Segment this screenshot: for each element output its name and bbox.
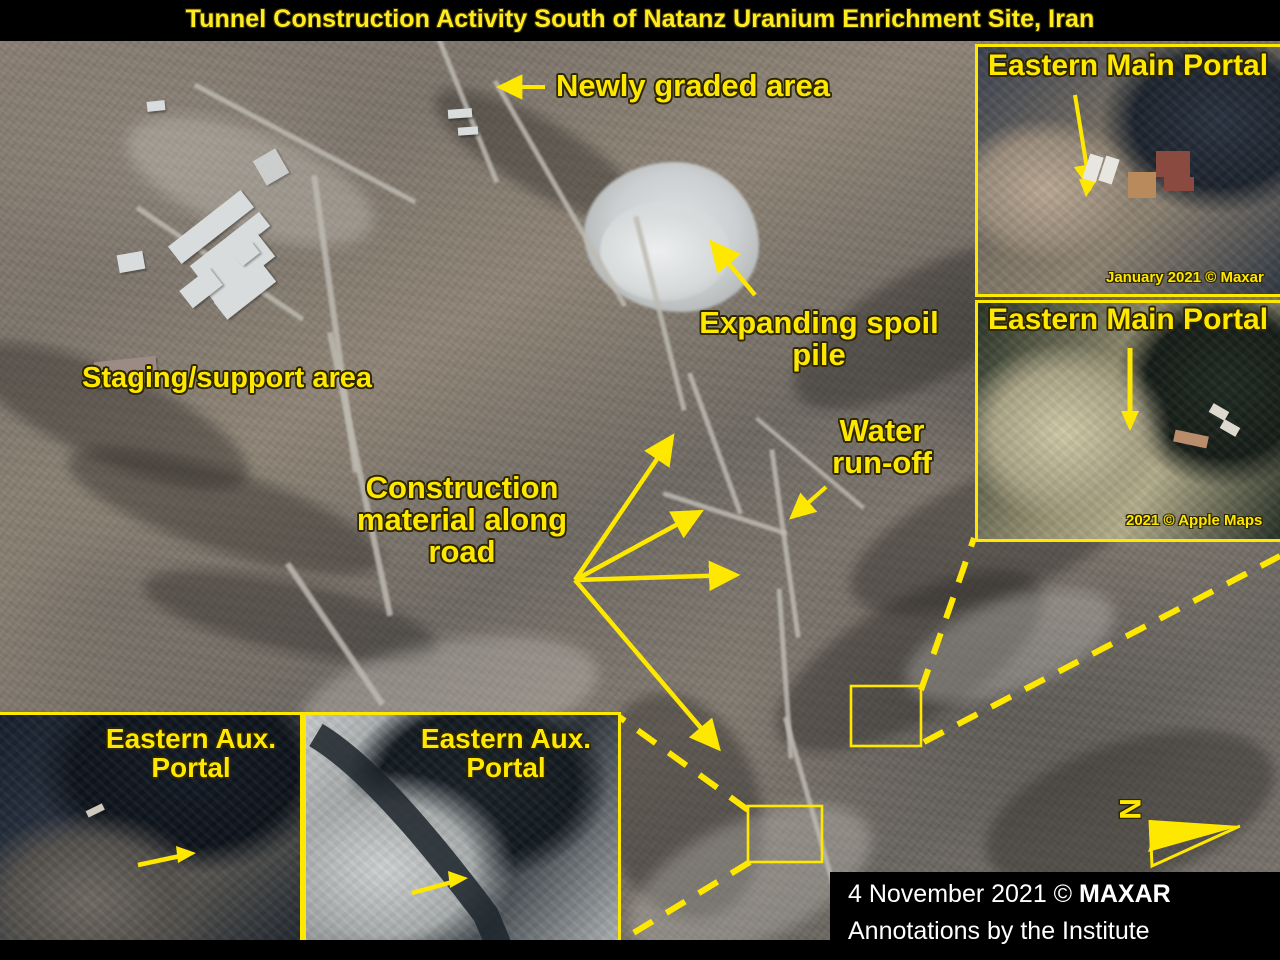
credit-attribution: Annotations by the Institute xyxy=(848,917,1150,946)
spoil-pile-inner xyxy=(600,201,730,301)
inset-eastern-main-portal-apple[interactable]: Eastern Main Portal 2021 © Apple Maps xyxy=(975,300,1280,542)
annotation-water-runoff: Water run-off xyxy=(812,415,952,479)
annotation-newly-graded: Newly graded area xyxy=(556,70,830,102)
inset-eastern-aux-portal-nov[interactable]: Eastern Aux. Portal xyxy=(303,712,621,960)
title-bar: Tunnel Construction Activity South of Na… xyxy=(0,0,1280,41)
inset-label: Eastern Main Portal xyxy=(988,51,1268,82)
inset-arrow-overlay xyxy=(978,303,1280,539)
credit-date-prefix: 4 November 2021 © xyxy=(848,880,1079,908)
credit-date-line: 4 November 2021 © MAXAR xyxy=(848,880,1171,909)
satellite-annotation-figure: Newly graded area Expanding spoil pile S… xyxy=(0,0,1280,960)
inset-label: Eastern Aux. Portal xyxy=(96,725,286,782)
annotation-construction-material: Construction material along road xyxy=(338,472,586,569)
inset-credit: 2021 © Apple Maps xyxy=(1126,512,1262,529)
north-arrow-letter: N xyxy=(1112,798,1146,820)
inset-eastern-main-portal-maxar[interactable]: Eastern Main Portal January 2021 © Maxar xyxy=(975,44,1280,297)
inset-label: Eastern Aux. Portal xyxy=(406,725,606,782)
page-title: Tunnel Construction Activity South of Na… xyxy=(0,5,1280,34)
inset-arrow-overlay xyxy=(978,47,1280,294)
annotation-staging-area: Staging/support area xyxy=(82,363,372,393)
inset-eastern-aux-portal-maxar[interactable]: Eastern Aux. Portal January 2021 © Maxar xyxy=(0,712,303,960)
building xyxy=(448,108,473,119)
bottom-black-strip xyxy=(0,940,830,960)
credit-brand: MAXAR xyxy=(1079,880,1171,908)
inset-credit: January 2021 © Maxar xyxy=(1106,269,1264,286)
building xyxy=(147,100,166,112)
annotation-expanding-spoil: Expanding spoil pile xyxy=(684,307,954,371)
building xyxy=(458,126,479,135)
credit-box: 4 November 2021 © MAXAR Annotations by t… xyxy=(830,872,1280,960)
inset-label: Eastern Main Portal xyxy=(988,305,1268,336)
